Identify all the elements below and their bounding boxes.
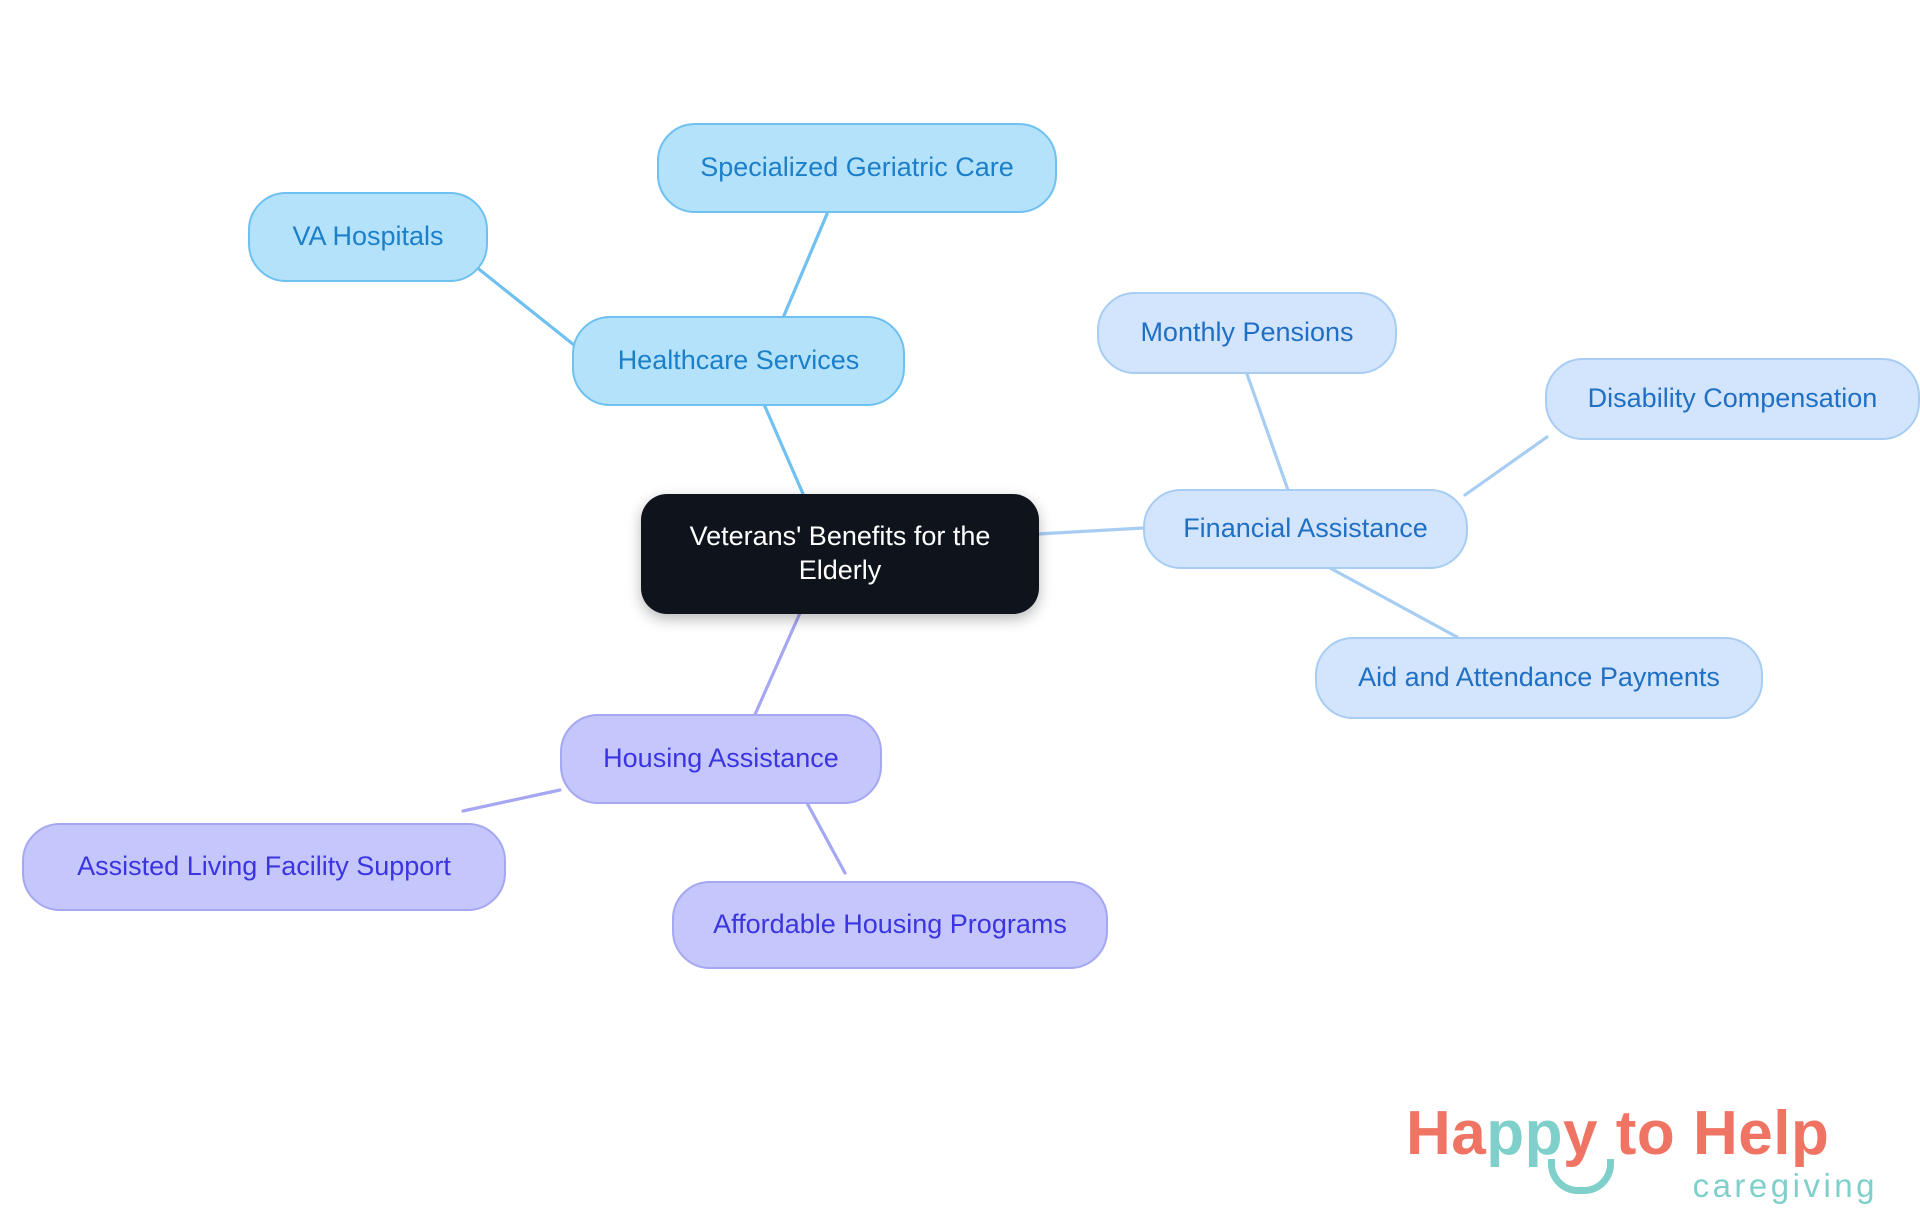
edge-root-to-housing [753, 613, 800, 719]
node-aid-and-attendance-payments[interactable]: Aid and Attendance Payments [1315, 637, 1763, 719]
node-specialized-geriatric-care[interactable]: Specialized Geriatric Care [657, 123, 1057, 213]
logo-wordmark: Happy to Help [1406, 1103, 1829, 1165]
node-financial-assistance[interactable]: Financial Assistance [1143, 489, 1468, 569]
node-assisted-living-facility-support[interactable]: Assisted Living Facility Support [22, 823, 506, 911]
edge-financial-to-disability-compensation [1465, 437, 1547, 495]
edge-root-to-healthcare [760, 395, 807, 503]
edge-healthcare-to-va-hospitals [470, 262, 574, 345]
edge-housing-to-assisted-living [463, 790, 560, 811]
node-root[interactable]: Veterans' Benefits for the Elderly [641, 494, 1039, 614]
node-affordable-housing-programs[interactable]: Affordable Housing Programs [672, 881, 1108, 969]
edge-financial-to-aid-attendance [1330, 568, 1457, 637]
edge-root-to-financial [1038, 528, 1143, 534]
node-monthly-pensions[interactable]: Monthly Pensions [1097, 292, 1397, 374]
mindmap-canvas: Veterans' Benefits for the Elderly Healt… [0, 0, 1920, 1215]
node-healthcare-services[interactable]: Healthcare Services [572, 316, 905, 406]
smile-icon [1548, 1159, 1614, 1194]
logo-part-ha: Ha [1406, 1099, 1486, 1168]
logo-tagline: caregiving [1693, 1169, 1878, 1202]
logo-part-pp: pp [1486, 1099, 1563, 1168]
edge-healthcare-to-geriatric-care [780, 214, 827, 325]
node-housing-assistance[interactable]: Housing Assistance [560, 714, 882, 804]
brand-logo: Happy to Help caregiving [1406, 1103, 1882, 1209]
node-va-hospitals[interactable]: VA Hospitals [248, 192, 488, 282]
edge-financial-to-monthly-pensions [1247, 374, 1288, 490]
node-disability-compensation[interactable]: Disability Compensation [1545, 358, 1920, 440]
logo-part-y-to-help: y to Help [1563, 1099, 1829, 1168]
